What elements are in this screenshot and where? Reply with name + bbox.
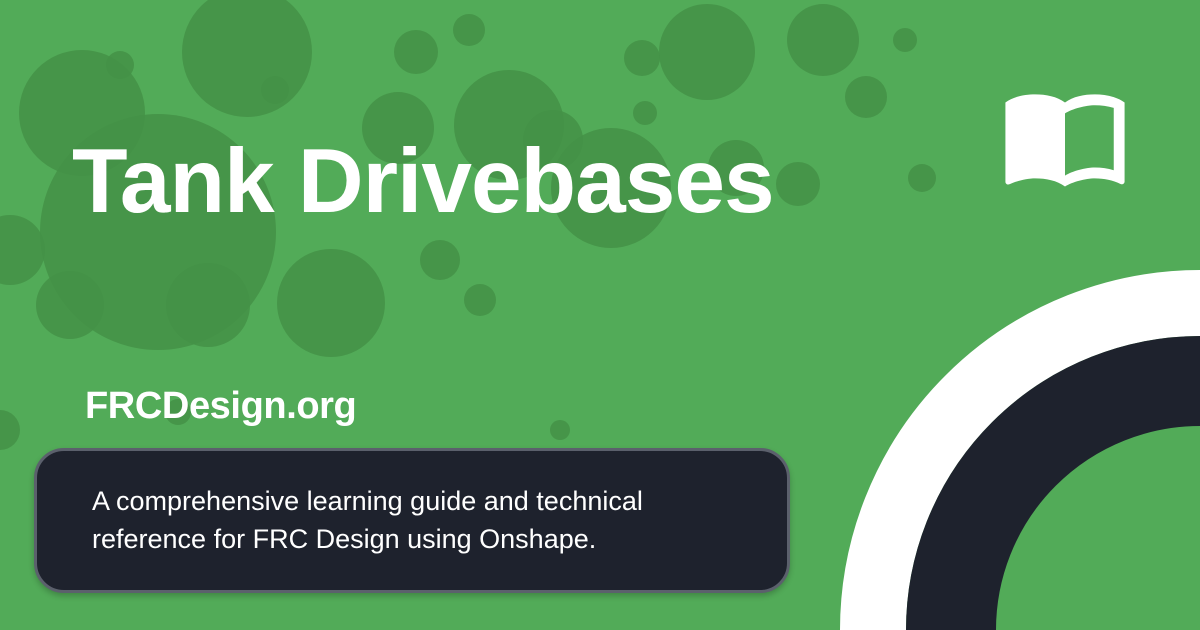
decorative-circle	[106, 51, 134, 79]
social-card-banner: Tank Drivebases FRCDesign.org A comprehe…	[0, 0, 1200, 630]
inner-arc-ring	[951, 381, 1200, 630]
decorative-circle	[453, 14, 485, 46]
decorative-circle	[0, 410, 20, 450]
decorative-circle	[261, 76, 289, 104]
decorative-circle	[420, 240, 460, 280]
description-text: A comprehensive learning guide and techn…	[37, 483, 787, 558]
decorative-circle	[908, 164, 936, 192]
decorative-circle	[845, 76, 887, 118]
decorative-circle	[787, 4, 859, 76]
outer-arc-ring	[873, 303, 1200, 630]
decorative-circle	[659, 4, 755, 100]
decorative-circle	[633, 101, 657, 125]
page-title: Tank Drivebases	[72, 134, 774, 230]
open-book-icon	[991, 70, 1139, 200]
decorative-circle	[550, 420, 570, 440]
corner-arc-decoration	[780, 230, 1200, 630]
decorative-circle	[893, 28, 917, 52]
decorative-circle	[166, 263, 250, 347]
decorative-circle	[464, 284, 496, 316]
decorative-circle	[277, 249, 385, 357]
description-card: A comprehensive learning guide and techn…	[34, 448, 790, 593]
decorative-circle	[182, 0, 312, 117]
decorative-circle	[776, 162, 820, 206]
decorative-circle	[624, 40, 660, 76]
decorative-circle	[0, 215, 45, 285]
decorative-circle	[36, 271, 104, 339]
brand-name: FRCDesign.org	[85, 385, 356, 428]
decorative-circle	[394, 30, 438, 74]
